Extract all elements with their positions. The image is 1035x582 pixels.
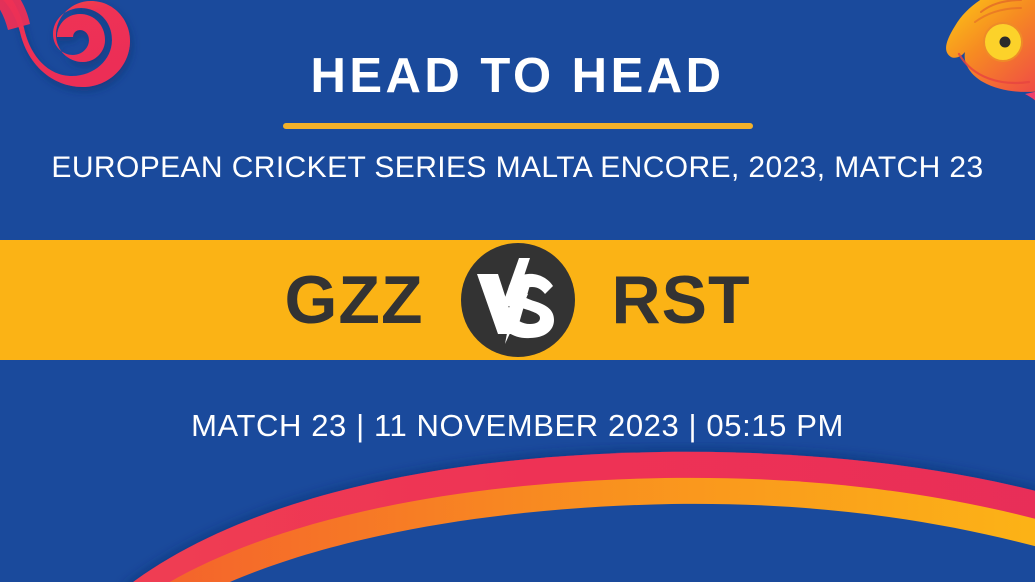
title-underline-divider xyxy=(283,123,753,129)
poster-header: HEAD TO HEAD EUROPEAN CRICKET SERIES MAL… xyxy=(0,0,1035,240)
home-team-code: GZZ xyxy=(250,266,458,334)
match-details-text: MATCH 23 | 11 NOVEMBER 2023 | 05:15 PM xyxy=(0,410,1035,441)
tournament-name: EUROPEAN CRICKET SERIES MALTA ENCORE, 20… xyxy=(51,153,983,183)
head-to-head-poster: HEAD TO HEAD EUROPEAN CRICKET SERIES MAL… xyxy=(0,0,1035,582)
versus-band: GZZ RST xyxy=(0,240,1035,360)
ribbon-swoosh-icon xyxy=(0,442,1035,582)
page-title: HEAD TO HEAD xyxy=(310,52,724,101)
away-team-code: RST xyxy=(578,266,786,334)
team-matchup-row: GZZ RST xyxy=(250,240,786,360)
vs-badge-icon xyxy=(458,240,578,360)
